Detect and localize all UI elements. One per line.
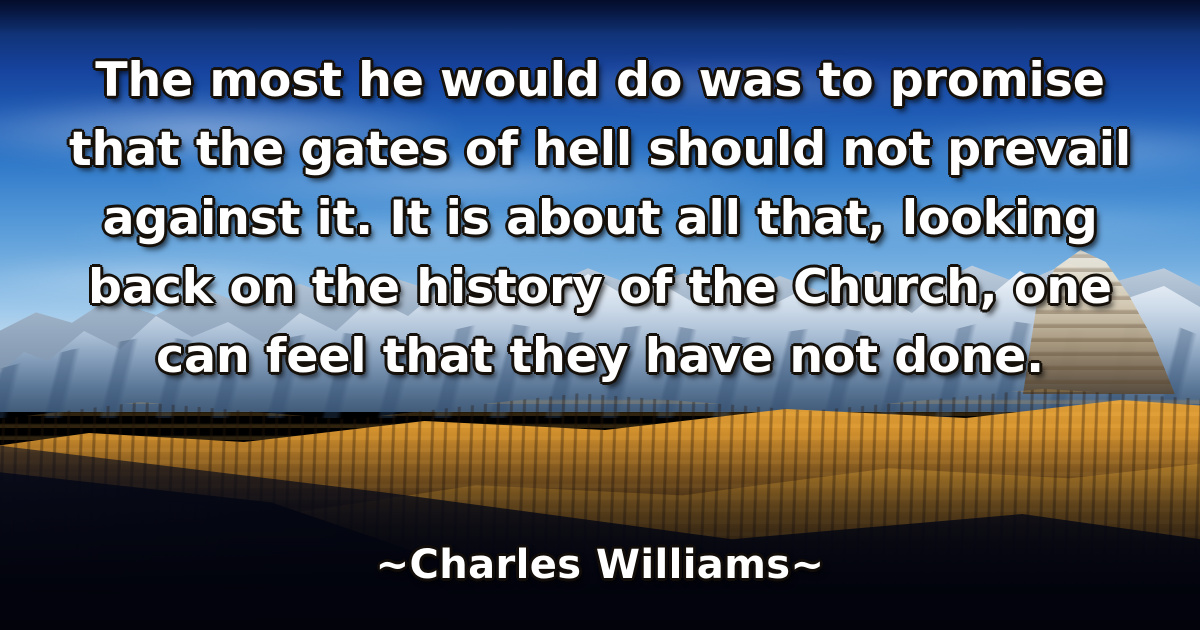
quote-attribution: ~Charles Williams~ [0, 541, 1200, 589]
quote-card: The most he would do was to promise that… [0, 0, 1200, 630]
quote-text: The most he would do was to promise that… [57, 46, 1143, 391]
text-overlay: The most he would do was to promise that… [0, 0, 1200, 630]
